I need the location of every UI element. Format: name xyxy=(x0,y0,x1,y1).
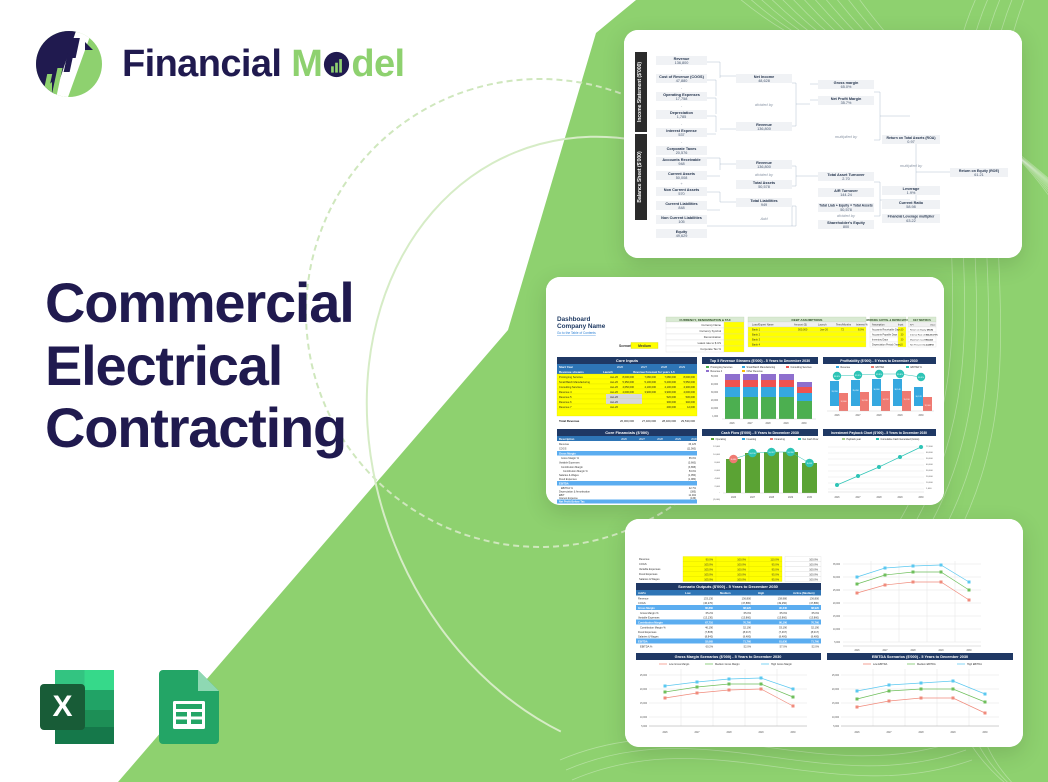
svg-text:12,000: 12,000 xyxy=(687,405,695,409)
svg-text:Bank 3: Bank 3 xyxy=(752,338,761,342)
svg-text:65.0%: 65.0% xyxy=(841,85,852,89)
svg-text:105.0%: 105.0% xyxy=(704,572,713,576)
svg-text:2028: 2028 xyxy=(910,650,916,652)
svg-text:1,000: 1,000 xyxy=(926,488,932,490)
svg-text:Gross Margin: Gross Margin xyxy=(638,606,655,610)
svg-text:61.21: 61.21 xyxy=(974,173,984,177)
svg-text:Description: Description xyxy=(559,437,575,441)
svg-text:Other Revenue: Other Revenue xyxy=(747,370,764,373)
svg-text:38.5%: 38.5% xyxy=(918,377,924,379)
svg-text:Small Batch Manufacturing: Small Batch Manufacturing xyxy=(559,380,591,384)
svg-text:8,000,000: 8,000,000 xyxy=(683,375,695,379)
headline-line-2: Electrical xyxy=(45,335,354,398)
svg-text:2027: 2027 xyxy=(639,437,645,441)
svg-text:10,000: 10,000 xyxy=(640,717,648,719)
preview-dashboard[interactable]: Dashboard Company Name Go to the Table o… xyxy=(546,277,944,505)
svg-text:530,000: 530,000 xyxy=(686,395,696,399)
svg-text:2028: 2028 xyxy=(876,415,882,417)
svg-text:2028: 2028 xyxy=(769,497,775,499)
svg-text:53,190: 53,190 xyxy=(779,626,787,630)
svg-text:95.0%: 95.0% xyxy=(772,577,780,581)
svg-text:5,100,000: 5,100,000 xyxy=(644,380,656,384)
svg-text:4,300,000: 4,300,000 xyxy=(683,385,695,389)
svg-text:High: High xyxy=(758,591,765,595)
svg-text:30,000: 30,000 xyxy=(833,577,841,579)
svg-text:136,800: 136,800 xyxy=(810,597,820,601)
logo-o-chart-icon xyxy=(323,51,350,78)
brand-name-model: Mdel xyxy=(291,43,404,86)
headline-line-3: Contracting xyxy=(45,397,354,460)
svg-text:105.0%: 105.0% xyxy=(704,567,713,571)
svg-text:100.0%: 100.0% xyxy=(809,557,818,561)
svg-text:EBITDA %: EBITDA % xyxy=(640,645,653,649)
svg-text:Jan-26: Jan-26 xyxy=(610,385,618,389)
svg-text:35,000: 35,000 xyxy=(833,564,841,566)
svg-text:Amount ($): Amount ($) xyxy=(794,323,807,327)
svg-text:Fixed Expenses: Fixed Expenses xyxy=(639,572,658,576)
svg-text:Gross Margin Scenarios ($'000): Gross Margin Scenarios ($'000) - 5 Years… xyxy=(675,655,782,659)
svg-text:30,000: 30,000 xyxy=(926,470,933,472)
svg-text:Interest %: Interest % xyxy=(856,323,868,327)
svg-text:50,008: 50,008 xyxy=(676,176,688,180)
svg-text:1.9%: 1.9% xyxy=(907,191,916,195)
svg-text:33,358: 33,358 xyxy=(831,391,838,393)
svg-text:65.2%: 65.2% xyxy=(706,611,714,615)
svg-text:Latest rate to $ US: Latest rate to $ US xyxy=(698,341,721,345)
svg-text:71,760: 71,760 xyxy=(743,639,751,643)
svg-text:5,200,000: 5,200,000 xyxy=(664,380,676,384)
svg-text:(9,480): (9,480) xyxy=(811,635,819,639)
svg-text:Term/Months: Term/Months xyxy=(836,323,852,327)
svg-text:25,000: 25,000 xyxy=(832,675,840,677)
svg-text:(8,017): (8,017) xyxy=(811,630,819,634)
preview-dupont-model[interactable]: Income Statement ($'000) Balance Sheet (… xyxy=(624,30,1022,258)
svg-text:Investment Payback Chart ($'00: Investment Payback Chart ($'000) - 5 Yea… xyxy=(831,431,927,435)
svg-text:100.0%: 100.0% xyxy=(809,577,818,581)
svg-text:(2,000): (2,000) xyxy=(713,499,720,501)
svg-text:65.0%: 65.0% xyxy=(689,457,697,460)
svg-text:60.2%: 60.2% xyxy=(706,645,714,649)
file-format-icons: X xyxy=(33,663,233,751)
svg-text:60,000: 60,000 xyxy=(926,452,933,454)
svg-text:100.0%: 100.0% xyxy=(809,572,818,576)
svg-text:Core Financials ($'000): Core Financials ($'000) xyxy=(605,430,649,435)
svg-text:Currency Symbol: Currency Symbol xyxy=(700,329,722,333)
svg-text:2027: 2027 xyxy=(882,650,888,652)
svg-text:100.0%: 100.0% xyxy=(809,562,818,566)
svg-text:10,396: 10,396 xyxy=(787,452,794,454)
svg-text:8,680: 8,680 xyxy=(731,459,737,461)
svg-text:Bank 4: Bank 4 xyxy=(752,343,761,347)
svg-text:38,148: 38,148 xyxy=(894,389,901,391)
google-sheets-icon[interactable] xyxy=(145,663,233,751)
svg-text:72,000: 72,000 xyxy=(926,446,933,448)
svg-text:EBITDA %: EBITDA % xyxy=(911,366,923,369)
svg-text:2027: 2027 xyxy=(886,732,892,734)
svg-text:95.0%: 95.0% xyxy=(772,562,780,566)
svg-text:Net Profit Before Tax: Net Profit Before Tax xyxy=(559,500,585,504)
svg-text:100.0%: 100.0% xyxy=(737,557,746,561)
svg-text:36,866: 36,866 xyxy=(873,389,880,391)
svg-text:57.0%: 57.0% xyxy=(780,645,788,649)
svg-text:30,128: 30,128 xyxy=(915,396,922,398)
svg-text:2027: 2027 xyxy=(694,732,700,734)
svg-text:2028: 2028 xyxy=(661,365,668,369)
svg-text:520,000: 520,000 xyxy=(667,395,677,399)
svg-text:2030: 2030 xyxy=(982,732,988,734)
svg-text:Contribution Margin %: Contribution Margin % xyxy=(563,470,589,473)
svg-text:DEBT ASSUMPTIONS: DEBT ASSUMPTIONS xyxy=(792,318,823,322)
svg-text:(3,660): (3,660) xyxy=(688,462,696,465)
svg-text:CURRENCY, DENOMINATION & TAX: CURRENCY, DENOMINATION & TAX xyxy=(679,318,730,322)
svg-text:15,000: 15,000 xyxy=(640,703,648,705)
svg-text:136,800: 136,800 xyxy=(675,61,689,65)
svg-text:Revenue 4: Revenue 4 xyxy=(711,370,723,373)
svg-text:(47,880): (47,880) xyxy=(809,601,819,605)
svg-text:5,000: 5,000 xyxy=(833,726,839,728)
svg-text:2027: 2027 xyxy=(750,497,756,499)
svg-text:(13,130): (13,130) xyxy=(703,616,713,620)
svg-text:500,000: 500,000 xyxy=(925,340,934,342)
svg-text:2030: 2030 xyxy=(918,415,924,417)
svg-text:2029: 2029 xyxy=(679,365,686,369)
svg-text:28,400,000: 28,400,000 xyxy=(662,419,676,423)
svg-text:X: X xyxy=(52,690,72,723)
svg-text:50,578: 50,578 xyxy=(840,208,852,212)
svg-text:52,190: 52,190 xyxy=(743,626,751,630)
svg-text:110.0%: 110.0% xyxy=(770,557,779,561)
svg-text:WORKING CAPITAL & DEPRECIATION: WORKING CAPITAL & DEPRECIATION xyxy=(866,319,910,322)
svg-text:Contribution Margin: Contribution Margin xyxy=(561,466,583,469)
svg-text:2026: 2026 xyxy=(834,497,840,499)
svg-text:2030: 2030 xyxy=(966,650,972,652)
svg-text:multiplied by: multiplied by xyxy=(900,163,923,168)
svg-text:2028: 2028 xyxy=(876,497,882,499)
svg-text:15,196: 15,196 xyxy=(903,399,910,401)
svg-text:12,806: 12,806 xyxy=(840,401,847,403)
svg-text:71,760: 71,760 xyxy=(811,639,819,643)
svg-text:340,000: 340,000 xyxy=(686,400,696,404)
svg-text:2026: 2026 xyxy=(854,650,860,652)
svg-text:948: 948 xyxy=(678,162,684,166)
svg-text:2,000: 2,000 xyxy=(715,486,721,488)
svg-text:COGS: COGS xyxy=(559,448,567,451)
svg-text:39.9%: 39.9% xyxy=(876,374,882,376)
svg-text:Variable Expenses: Variable Expenses xyxy=(639,567,661,571)
svg-text:(9,480): (9,480) xyxy=(779,635,787,639)
svg-text:10,000: 10,000 xyxy=(711,408,719,410)
svg-text:35,458: 35,458 xyxy=(852,390,859,392)
svg-text:0.97: 0.97 xyxy=(907,140,914,144)
svg-text:Revenue: Revenue xyxy=(639,557,650,561)
svg-text:8,000: 8,000 xyxy=(715,462,721,464)
svg-text:52.0%: 52.0% xyxy=(744,645,752,649)
svg-text:Depreciation Period (Years): Depreciation Period (Years) xyxy=(872,344,901,347)
svg-text:50,578: 50,578 xyxy=(758,185,770,189)
svg-text:2030: 2030 xyxy=(801,423,807,425)
svg-text:90.0%: 90.0% xyxy=(706,557,714,561)
svg-text:(3,895): (3,895) xyxy=(688,466,696,469)
svg-text:20,000: 20,000 xyxy=(926,476,933,478)
svg-text:Jan-26: Jan-26 xyxy=(610,380,618,384)
svg-text:Revenue: Revenue xyxy=(559,443,570,446)
svg-text:25,000: 25,000 xyxy=(640,675,648,677)
svg-text:(1,980): (1,980) xyxy=(688,478,696,481)
svg-text:40,000: 40,000 xyxy=(711,384,719,386)
svg-text:70,760: 70,760 xyxy=(743,620,751,624)
svg-text:2030: 2030 xyxy=(691,437,697,441)
svg-text:35.7%: 35.7% xyxy=(841,101,852,105)
svg-text:KEY METRICS: KEY METRICS xyxy=(913,318,931,322)
svg-text:300,000: 300,000 xyxy=(667,400,677,404)
scenario-outputs-sheet: Revenue COGS Variable Expenses Fixed Exp… xyxy=(625,519,1023,747)
svg-text:Start Year: Start Year xyxy=(559,365,574,369)
svg-text:5,350,000: 5,350,000 xyxy=(622,380,634,384)
svg-text:48,628: 48,628 xyxy=(758,79,770,83)
svg-text:Revenue 5: Revenue 5 xyxy=(559,395,572,399)
svg-text:Revenue: Revenue xyxy=(638,597,649,601)
svg-text:100.0%: 100.0% xyxy=(809,567,818,571)
svg-text:33,125: 33,125 xyxy=(688,443,696,446)
svg-text:divided by: divided by xyxy=(755,102,774,107)
svg-text:136,800: 136,800 xyxy=(757,127,771,131)
svg-text:15,000: 15,000 xyxy=(833,616,841,618)
svg-text:47,880: 47,880 xyxy=(676,79,688,83)
svg-text:(7,805): (7,805) xyxy=(705,630,713,634)
svg-text:1,019.0: 1,019.0 xyxy=(926,345,934,347)
svg-text:2029: 2029 xyxy=(675,437,681,441)
svg-text:105.0%: 105.0% xyxy=(704,562,713,566)
svg-text:Profitability ($'000) - 5 Year: Profitability ($'000) - 5 Years to Decem… xyxy=(840,359,917,363)
svg-text:138,980: 138,980 xyxy=(778,597,788,601)
svg-text:Low: Low xyxy=(685,591,691,595)
svg-text:10,000: 10,000 xyxy=(832,717,840,719)
svg-text:Corporate Tax %: Corporate Tax % xyxy=(700,347,721,351)
svg-text:2030: 2030 xyxy=(790,732,796,734)
svg-text:KPI: KPI xyxy=(910,325,914,327)
svg-text:Company Name: Company Name xyxy=(557,323,606,330)
svg-text:2026: 2026 xyxy=(731,497,737,499)
svg-text:2027: 2027 xyxy=(641,365,648,369)
svg-text:Go to the Table of Contents: Go to the Table of Contents xyxy=(557,331,596,335)
svg-text:Fixed Expenses: Fixed Expenses xyxy=(559,478,578,481)
svg-text:2026: 2026 xyxy=(729,423,735,425)
svg-text:52,065: 52,065 xyxy=(705,639,713,643)
svg-text:EBITDA: EBITDA xyxy=(559,481,569,485)
svg-text:Gross Margin: Gross Margin xyxy=(559,451,576,455)
svg-text:Prototyping Services: Prototyping Services xyxy=(559,375,583,379)
svg-text:Fixed Expenses: Fixed Expenses xyxy=(638,630,657,634)
svg-text:Bank 2: Bank 2 xyxy=(752,333,761,337)
svg-text:Launch: Launch xyxy=(603,370,613,374)
svg-text:(13,860): (13,860) xyxy=(809,616,819,620)
svg-text:(1,950): (1,950) xyxy=(688,474,696,477)
svg-text:2026: 2026 xyxy=(854,732,860,734)
svg-text:Total Revenue: Total Revenue xyxy=(559,419,580,423)
svg-text:(7,467): (7,467) xyxy=(779,630,787,634)
svg-text:Low Gross Margin: Low Gross Margin xyxy=(669,663,690,666)
svg-text:133,130: 133,130 xyxy=(704,597,714,601)
svg-text:13,938: 13,938 xyxy=(861,400,868,402)
svg-text:136,800: 136,800 xyxy=(757,165,771,169)
svg-text:Medium EBITDA: Medium EBITDA xyxy=(917,663,936,666)
circular-bar-chart-logo-icon xyxy=(33,28,105,100)
svg-text:2028: 2028 xyxy=(765,423,771,425)
svg-text:multiplied by: multiplied by xyxy=(835,134,858,139)
svg-text:Jan-26: Jan-26 xyxy=(610,395,618,399)
svg-text:200,000: 200,000 xyxy=(667,405,677,409)
svg-text:(47,880): (47,880) xyxy=(741,601,751,605)
svg-text:30,000: 30,000 xyxy=(711,392,719,394)
svg-text:10,000: 10,000 xyxy=(833,629,841,631)
svg-text:High Gross Margin: High Gross Margin xyxy=(771,663,792,666)
svg-text:Variable Expenses: Variable Expenses xyxy=(638,616,660,620)
svg-text:2030: 2030 xyxy=(918,497,924,499)
svg-text:95.0%: 95.0% xyxy=(772,572,780,576)
svg-text:(11,560): (11,560) xyxy=(687,448,696,451)
svg-text:15,000: 15,000 xyxy=(832,703,840,705)
microsoft-excel-icon[interactable]: X xyxy=(33,663,121,751)
svg-text:Revenue 4: Revenue 4 xyxy=(559,390,572,394)
svg-text:7,080,000: 7,080,000 xyxy=(664,375,676,379)
svg-text:39.8%: 39.8% xyxy=(897,374,903,376)
brand-name-financial: Financial xyxy=(122,43,281,86)
svg-text:Medium: Medium xyxy=(638,344,651,348)
svg-text:Medium Gross Margin: Medium Gross Margin xyxy=(715,663,740,666)
svg-text:537: 537 xyxy=(678,133,684,137)
svg-text:Contribution Margin: Contribution Margin xyxy=(638,620,663,624)
svg-text:Cumulative Cash Generated (Gro: Cumulative Cash Generated (Gross) xyxy=(881,438,920,441)
svg-text:46,190: 46,190 xyxy=(705,626,713,630)
svg-text:(46,270): (46,270) xyxy=(703,601,713,605)
svg-text:EBITDA: EBITDA xyxy=(638,639,648,643)
svg-text:2028: 2028 xyxy=(726,732,732,734)
svg-text:Small Batch Manufacturing: Small Batch Manufacturing xyxy=(747,366,776,369)
svg-text:10,397: 10,397 xyxy=(768,452,775,454)
svg-text:Dashboard: Dashboard xyxy=(557,316,590,323)
svg-text:Financial Leverage multiplier: Financial Leverage multiplier xyxy=(888,215,935,219)
svg-text:29,530,000: 29,530,000 xyxy=(681,419,695,423)
svg-text:Medium: Medium xyxy=(720,591,731,595)
svg-text:Consulting Services: Consulting Services xyxy=(791,366,813,369)
svg-text:65.0%: 65.0% xyxy=(744,611,752,615)
svg-text:4,100,000: 4,100,000 xyxy=(664,385,676,389)
svg-text:Revenue streams: Revenue streams xyxy=(559,370,584,374)
svg-text:12,000: 12,000 xyxy=(713,446,720,448)
svg-text:(49,250): (49,250) xyxy=(777,601,787,605)
svg-text:Core Inputs: Core Inputs xyxy=(616,358,639,363)
svg-text:Revenue: Revenue xyxy=(841,366,851,369)
svg-text:40,000: 40,000 xyxy=(926,464,933,466)
svg-text:100.0%: 100.0% xyxy=(737,567,746,571)
svg-text:70,760: 70,760 xyxy=(811,620,819,624)
svg-text:49,629: 49,629 xyxy=(676,234,688,238)
svg-text:2027: 2027 xyxy=(855,497,861,499)
svg-text:Salaries & Wages: Salaries & Wages xyxy=(638,635,659,639)
svg-text:divided by: divided by xyxy=(755,172,774,177)
brand-logo[interactable]: Financial Mdel xyxy=(33,28,404,100)
svg-text:2026: 2026 xyxy=(621,437,627,441)
svg-text:Financing: Financing xyxy=(775,438,786,441)
svg-text:8.0%: 8.0% xyxy=(858,328,865,332)
svg-text:Operating: Operating xyxy=(716,438,727,441)
svg-text:61.21: 61.21 xyxy=(928,330,934,332)
svg-text:52,190: 52,190 xyxy=(811,626,819,630)
svg-text:3,900,000: 3,900,000 xyxy=(644,390,656,394)
svg-text:2027: 2027 xyxy=(747,423,753,425)
svg-text:Internal Rate of Return (IRR): Internal Rate of Return (IRR) xyxy=(910,334,938,337)
svg-text:26,000,000: 26,000,000 xyxy=(620,419,634,423)
svg-text:Scenario Outputs ($'000) - 5 Y: Scenario Outputs ($'000) - 5 Years to De… xyxy=(678,584,779,589)
svg-text:100.0%: 100.0% xyxy=(737,562,746,566)
svg-text:High EBITDA: High EBITDA xyxy=(967,663,982,666)
preview-scenarios[interactable]: Revenue COGS Variable Expenses Fixed Exp… xyxy=(625,519,1023,747)
svg-text:5,000: 5,000 xyxy=(834,642,840,644)
svg-text:Variable Expenses: Variable Expenses xyxy=(559,462,580,465)
svg-text:Cash Flow ($'000) - 5 Years to: Cash Flow ($'000) - 5 Years to December … xyxy=(721,431,799,435)
svg-text:Total Liab + Equity = Total As: Total Liab + Equity = Total Assets xyxy=(819,204,873,208)
svg-text:50,000: 50,000 xyxy=(926,458,933,460)
svg-text:65.0%: 65.0% xyxy=(812,611,820,615)
svg-text:2029: 2029 xyxy=(758,732,764,734)
svg-text:COGS: COGS xyxy=(638,601,646,605)
svg-text:2027: 2027 xyxy=(855,415,861,417)
svg-text:Denomination: Denomination xyxy=(704,335,722,339)
svg-text:Accounts Payable Days: Accounts Payable Days xyxy=(872,334,898,337)
svg-text:2029: 2029 xyxy=(897,415,903,417)
svg-text:Top 5 Revenue Streams ($'000): Top 5 Revenue Streams ($'000) - 5 Years … xyxy=(710,359,810,363)
svg-text:Assumption: Assumption xyxy=(872,324,885,327)
svg-text:3,900,000: 3,900,000 xyxy=(664,390,676,394)
svg-text:Jan-26: Jan-26 xyxy=(610,405,618,409)
svg-text:570: 570 xyxy=(678,192,684,196)
svg-text:2028: 2028 xyxy=(918,732,924,734)
svg-text:Revenue 6: Revenue 6 xyxy=(559,400,572,404)
svg-text:136,800: 136,800 xyxy=(742,597,752,601)
svg-text:(13,860): (13,860) xyxy=(741,616,751,620)
svg-text:1,000: 1,000 xyxy=(712,416,718,418)
svg-text:Launch: Launch xyxy=(818,323,827,327)
svg-text:39.3%: 39.3% xyxy=(855,375,861,377)
svg-text:90,340: 90,340 xyxy=(779,606,787,610)
svg-text:2029: 2029 xyxy=(950,732,956,734)
svg-text:67,710: 67,710 xyxy=(705,620,713,624)
svg-text:10,190: 10,190 xyxy=(749,453,756,455)
svg-text:4,000,000: 4,000,000 xyxy=(683,390,695,394)
svg-text:Income Statement ($'000): Income Statement ($'000) xyxy=(637,62,643,122)
svg-text:4,000: 4,000 xyxy=(715,478,721,480)
svg-text:6,000: 6,000 xyxy=(715,470,721,472)
svg-text:100.0%: 100.0% xyxy=(737,572,746,576)
svg-text:Salaries & Wages: Salaries & Wages xyxy=(559,474,580,477)
svg-text:2029: 2029 xyxy=(938,650,944,652)
svg-text:Jan-26: Jan-26 xyxy=(610,400,618,404)
svg-text:(8,840): (8,840) xyxy=(705,635,713,639)
svg-text:4,050,000: 4,050,000 xyxy=(622,385,634,389)
headline-line-1: Commercial xyxy=(45,272,354,335)
svg-text:2029: 2029 xyxy=(783,423,789,425)
svg-text:50,000: 50,000 xyxy=(711,376,719,378)
svg-text:EBITDA Scenarios ($'000) - 5 Y: EBITDA Scenarios ($'000) - 5 Years to De… xyxy=(872,655,968,659)
svg-text:Inventory Days: Inventory Days xyxy=(872,339,889,342)
svg-text:105.0%: 105.0% xyxy=(704,577,713,581)
svg-text:Revenue 7: Revenue 7 xyxy=(559,405,572,409)
svg-text:10,000: 10,000 xyxy=(926,482,933,484)
svg-text:2.70: 2.70 xyxy=(842,177,849,181)
svg-text:7,080,000: 7,080,000 xyxy=(644,375,656,379)
svg-text:14,702: 14,702 xyxy=(882,399,889,401)
svg-text:4,100,000: 4,100,000 xyxy=(644,385,656,389)
